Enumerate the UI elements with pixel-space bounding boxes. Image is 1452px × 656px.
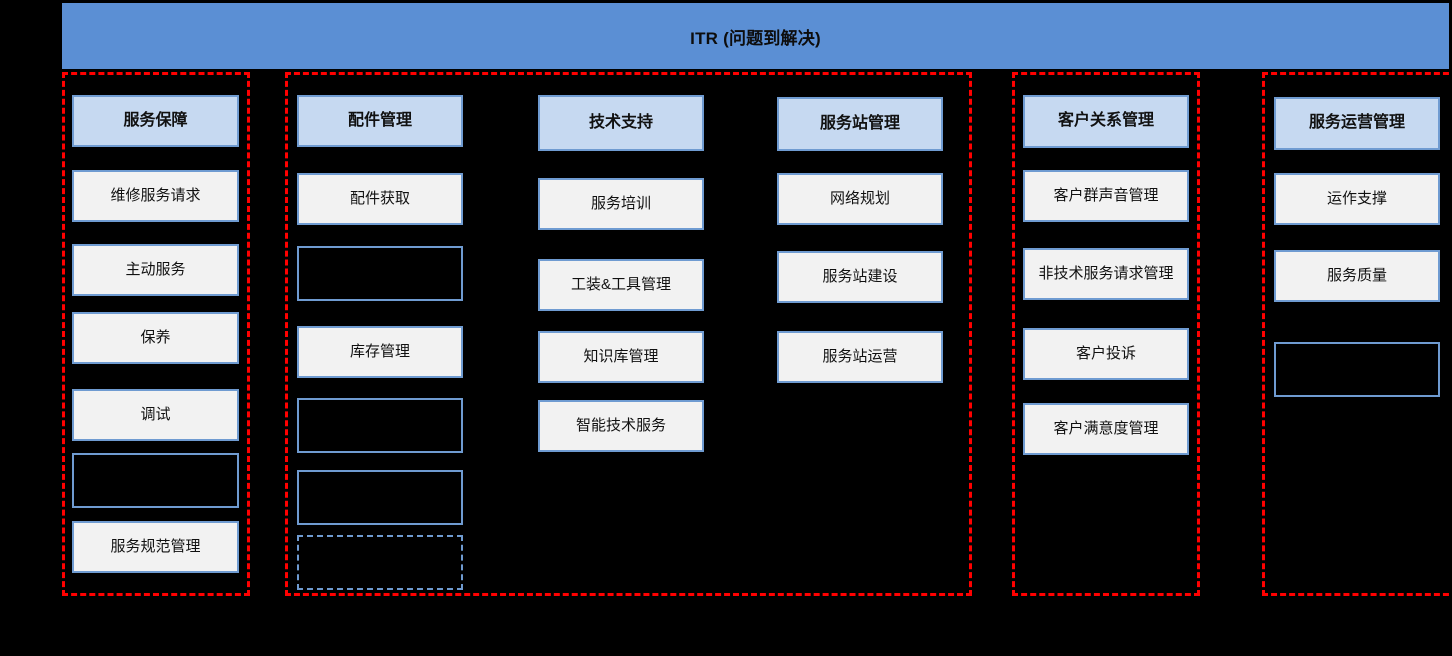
- col-service-operations-empty-box[interactable]: [1274, 342, 1440, 397]
- col-service-operations-item[interactable]: 服务质量: [1274, 250, 1440, 302]
- col-service-operations: 服务运营管理运作支撑服务质量: [0, 0, 1452, 656]
- item-label: 服务质量: [1323, 267, 1391, 285]
- col-service-operations-item[interactable]: 运作支撑: [1274, 173, 1440, 225]
- item-label: 运作支撑: [1323, 190, 1391, 208]
- diagram-canvas: ITR (问题到解决) 服务保障维修服务请求主动服务保养调试服务规范管理配件管理…: [0, 0, 1452, 656]
- col-service-operations-header[interactable]: 服务运营管理: [1274, 97, 1440, 150]
- column-header-label: 服务运营管理: [1305, 114, 1409, 133]
